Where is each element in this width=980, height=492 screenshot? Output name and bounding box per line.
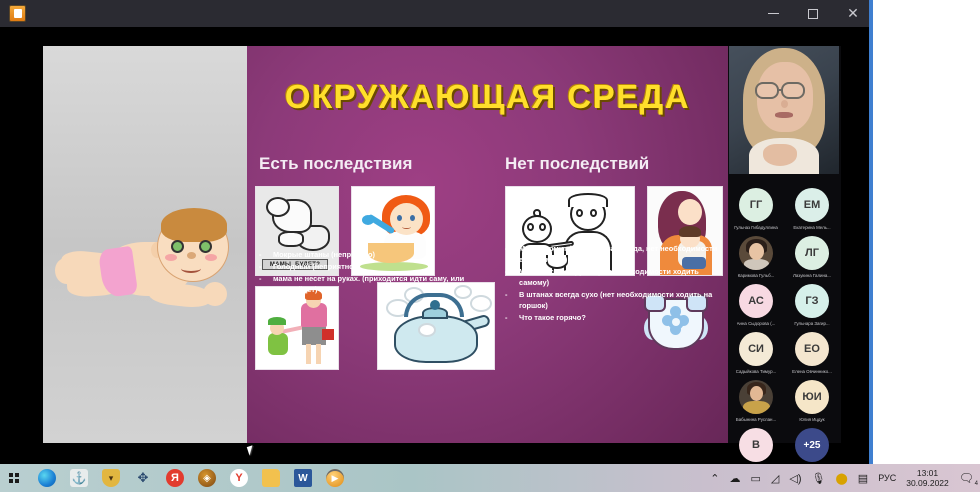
- bullet-marker: -: [505, 312, 519, 323]
- bullet-marker: -: [259, 261, 273, 272]
- keyboard-icon[interactable]: ▤: [858, 472, 868, 485]
- list-item: - В штанах всегда сухо (нет необходимост…: [505, 289, 727, 311]
- participant-tile[interactable]: СИСадыйкова Тимур...: [728, 326, 784, 374]
- participant-row: СИСадыйкова Тимур...ЕОЕлена Овчиннико...: [728, 326, 841, 374]
- bullet-marker: -: [505, 266, 519, 288]
- participant-tile[interactable]: ЕОЕлена Овчиннико...: [784, 326, 840, 374]
- list-item: - Что такое горячо?: [505, 312, 727, 323]
- move-arrows-icon[interactable]: ✥: [134, 469, 152, 487]
- avatar: ЛГ: [795, 236, 829, 270]
- microsoft-edge-icon[interactable]: [38, 469, 56, 487]
- slide-stage: ОКРУЖАЮЩАЯ СРЕДА Есть последствия Нет по…: [43, 46, 728, 443]
- participant-tile[interactable]: Бабынина Руслан...: [728, 374, 784, 422]
- slide-left-panel: [43, 46, 247, 443]
- mouse-cursor: [247, 445, 255, 455]
- tray-chevron-icon[interactable]: ⌃: [710, 472, 719, 485]
- bullet-marker: -: [259, 273, 273, 295]
- microphone-icon[interactable]: 🎙: [812, 472, 826, 485]
- yandex-browser-icon[interactable]: Y: [230, 469, 248, 487]
- shield-app-icon[interactable]: ▾: [102, 469, 120, 487]
- participant-tile[interactable]: +25: [784, 422, 840, 464]
- bullet-marker: -: [505, 289, 519, 311]
- avatar: В: [739, 428, 773, 462]
- bullet-text: Мама носит на руках (нет необходимости х…: [519, 266, 727, 288]
- participant-row: ГГГульназ ГибадуллинаЕМЕкатерина Мель...: [728, 182, 841, 230]
- right-bullet-list: - Мама кормит (нет чувства голода, нет н…: [505, 243, 727, 324]
- column-heading-right: Нет последствий: [505, 154, 649, 174]
- participant-row: АСАнна Сыдорова (...ГЗГульнара Загир...: [728, 278, 841, 326]
- avatar: ГЗ: [795, 284, 829, 318]
- avatar: АС: [739, 284, 773, 318]
- windows-taskbar: ⚓ ▾ ✥ Я ◈ Y W ▶ ⌃ ☁ ▭ ◿ ◁) 🎙 ⬤ ▤ РУС 13:…: [0, 464, 980, 492]
- window-edge: [869, 0, 873, 464]
- list-item: - Мокрые штаны (неприятно): [259, 249, 474, 260]
- bullet-marker: -: [505, 243, 519, 265]
- list-item: - мама не несет на руках. (приходится ид…: [259, 273, 474, 295]
- participant-tile[interactable]: ЮИЮлия Ицдук: [784, 374, 840, 422]
- avatar: ЕО: [795, 332, 829, 366]
- column-heading-left: Есть последствия: [259, 154, 412, 174]
- clock-time: 13:01: [917, 468, 938, 478]
- bullet-text: Что такое горячо?: [519, 312, 727, 323]
- volume-icon[interactable]: ◁): [789, 472, 801, 485]
- bullet-marker: -: [259, 249, 273, 260]
- avatar: +25: [795, 428, 829, 462]
- game-app-icon[interactable]: ◈: [198, 469, 216, 487]
- screen-root: ✕: [0, 0, 980, 492]
- slide-title: ОКРУЖАЮЩАЯ СРЕДА: [247, 78, 728, 116]
- avatar: [739, 236, 773, 270]
- yandex-icon[interactable]: Я: [166, 469, 184, 487]
- crawling-baby-image: [53, 206, 243, 326]
- notifications-icon[interactable]: 🗨 4: [959, 471, 974, 485]
- window-titlebar[interactable]: ✕: [0, 0, 873, 27]
- microsoft-word-icon[interactable]: W: [294, 469, 312, 487]
- window-controls: ✕: [753, 0, 873, 27]
- anchor-app-icon[interactable]: ⚓: [70, 469, 88, 487]
- participant-tile[interactable]: ВВероника: [728, 422, 784, 464]
- participant-tile[interactable]: ЕМЕкатерина Мель...: [784, 182, 840, 230]
- bullet-text: Мокрые штаны (неприятно): [273, 249, 474, 260]
- avatar: ЕМ: [795, 188, 829, 222]
- avatar: ГГ: [739, 188, 773, 222]
- maximize-button[interactable]: [793, 0, 833, 27]
- taskbar-app-icons: ⚓ ▾ ✥ Я ◈ Y W ▶: [6, 464, 344, 492]
- language-indicator[interactable]: РУС: [878, 473, 896, 483]
- participant-row: Каримова Гульб...ЛГЛазукина Галина...: [728, 230, 841, 278]
- bullet-text: Мама кормит (нет чувства голода, нет нео…: [519, 243, 727, 265]
- onedrive-icon[interactable]: ☁: [730, 472, 741, 485]
- participant-tile[interactable]: ГГГульназ Гибадуллина: [728, 182, 784, 230]
- notification-count: 4: [975, 481, 978, 487]
- presentation-window: ✕: [0, 0, 873, 464]
- media-player-icon: [9, 5, 26, 22]
- participants-sidebar: ГГГульназ ГибадуллинаЕМЕкатерина Мель...…: [728, 46, 841, 443]
- system-tray: ⌃ ☁ ▭ ◿ ◁) 🎙 ⬤ ▤ РУС 13:01 30.09.2022 🗨 …: [710, 464, 974, 492]
- participant-list: ГГГульназ ГибадуллинаЕМЕкатерина Мель...…: [728, 182, 841, 464]
- slide-content: ОКРУЖАЮЩАЯ СРЕДА Есть последствия Нет по…: [247, 46, 728, 443]
- participant-row: ВВероника+25: [728, 422, 841, 464]
- participant-tile[interactable]: ГЗГульнара Загир...: [784, 278, 840, 326]
- minimize-button[interactable]: [753, 0, 793, 27]
- mother-walking-child-image: [255, 286, 339, 370]
- wifi-icon[interactable]: ◿: [771, 472, 779, 485]
- presenter-video[interactable]: [729, 46, 839, 174]
- update-icon[interactable]: ⬤: [835, 472, 847, 485]
- participant-tile[interactable]: АСАнна Сыдорова (...: [728, 278, 784, 326]
- media-player-icon[interactable]: ▶: [326, 469, 344, 487]
- bullet-text: Голодный (неприятно): [273, 261, 474, 272]
- bullet-text: мама не несет на руках. (приходится идти…: [273, 273, 474, 295]
- clock[interactable]: 13:01 30.09.2022: [906, 468, 949, 488]
- bullet-text: В штанах всегда сухо (нет необходимости …: [519, 289, 727, 311]
- participant-row: Бабынина Руслан...ЮИЮлия Ицдук: [728, 374, 841, 422]
- battery-icon[interactable]: ▭: [751, 472, 761, 485]
- participant-tile[interactable]: ЛГЛазукина Галина...: [784, 230, 840, 278]
- list-item: - Мама носит на руках (нет необходимости…: [505, 266, 727, 288]
- windows-start-icon[interactable]: [6, 469, 24, 487]
- participant-tile[interactable]: Каримова Гульб...: [728, 230, 784, 278]
- avatar: СИ: [739, 332, 773, 366]
- close-button[interactable]: ✕: [833, 0, 873, 27]
- avatar: [739, 380, 773, 414]
- clock-date: 30.09.2022: [906, 478, 949, 488]
- left-bullet-list: - Мокрые штаны (неприятно) - Голодный (н…: [259, 249, 474, 296]
- list-item: - Мама кормит (нет чувства голода, нет н…: [505, 243, 727, 265]
- list-item: - Голодный (неприятно): [259, 261, 474, 272]
- avatar: ЮИ: [795, 380, 829, 414]
- window-content: ОКРУЖАЮЩАЯ СРЕДА Есть последствия Нет по…: [0, 27, 873, 464]
- file-explorer-icon[interactable]: [262, 469, 280, 487]
